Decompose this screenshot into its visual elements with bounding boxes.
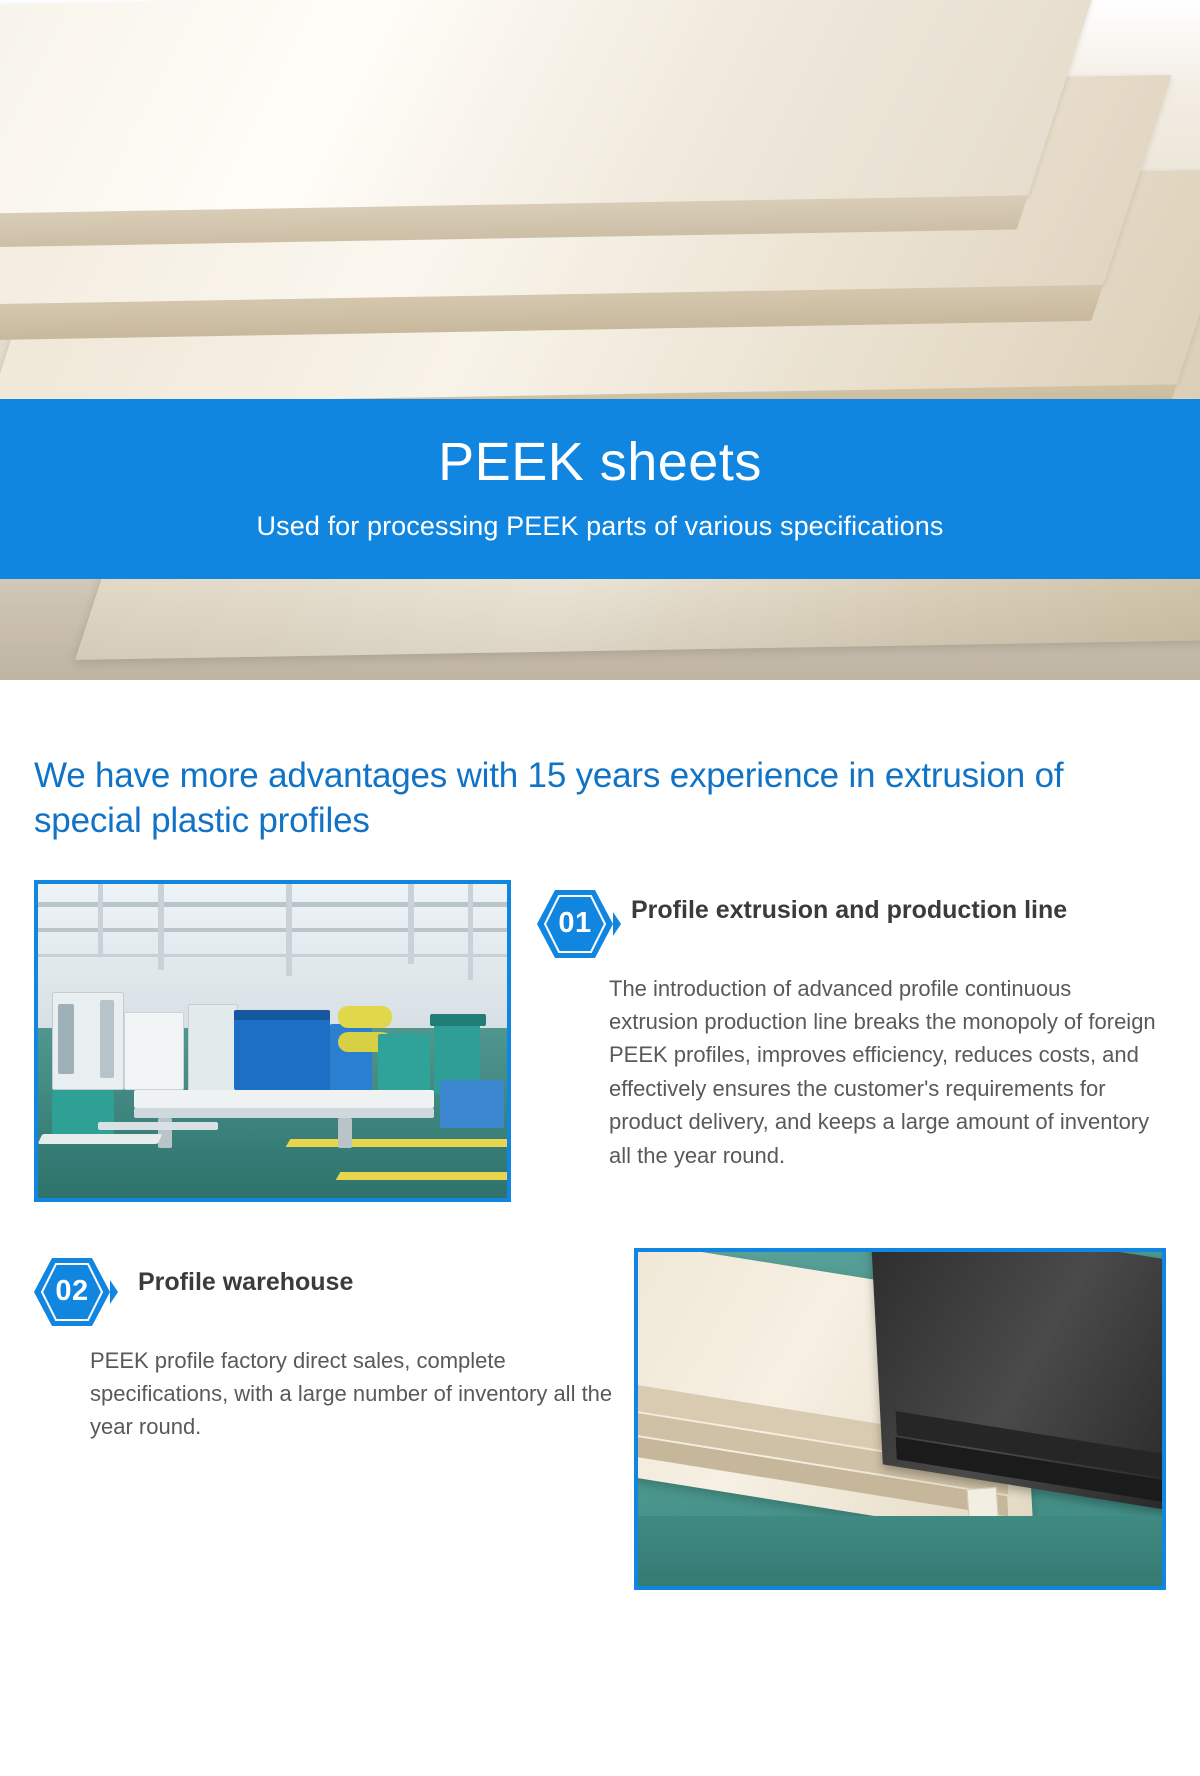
feature-01-text: 01 Profile extrusion and production line…: [511, 880, 1166, 1173]
feature-01-title: Profile extrusion and production line: [621, 880, 1067, 927]
feature-02-title: Profile warehouse: [118, 1248, 353, 1299]
hero-title: PEEK sheets: [0, 399, 1200, 489]
feature-01-header: 01 Profile extrusion and production line: [537, 880, 1166, 958]
factory-illustration: [38, 884, 507, 1198]
hero-section: PEEK sheets Used for processing PEEK par…: [0, 0, 1200, 680]
hero-subtitle: Used for processing PEEK parts of variou…: [0, 489, 1200, 542]
number-badge-02-label: 02: [34, 1258, 110, 1326]
number-badge-02: 02: [34, 1258, 118, 1326]
feature-block-01: 01 Profile extrusion and production line…: [0, 880, 1200, 1202]
number-badge-01: 01: [537, 890, 621, 958]
feature-02-header: 02 Profile warehouse: [34, 1248, 616, 1326]
feature-02-photo: [634, 1248, 1166, 1590]
hero-banner: PEEK sheets Used for processing PEEK par…: [0, 399, 1200, 579]
feature-01-body: The introduction of advanced profile con…: [537, 958, 1166, 1173]
section-headline: We have more advantages with 15 years ex…: [34, 754, 1166, 844]
feature-block-02: 02 Profile warehouse PEEK profile factor…: [0, 1248, 1200, 1590]
number-badge-01-label: 01: [537, 890, 613, 958]
warehouse-illustration: [638, 1252, 1162, 1586]
feature-01-photo: [34, 880, 511, 1202]
feature-02-text: 02 Profile warehouse PEEK profile factor…: [34, 1248, 634, 1444]
peek-sheet-1: [0, 0, 1097, 215]
feature-02-body: PEEK profile factory direct sales, compl…: [34, 1326, 616, 1444]
